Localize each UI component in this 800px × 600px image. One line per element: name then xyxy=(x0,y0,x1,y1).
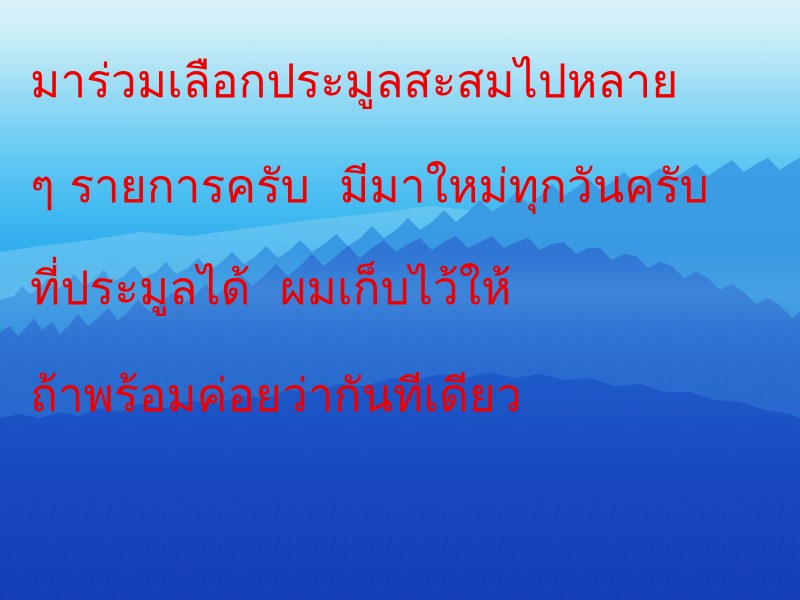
image-canvas: มาร่วมเลือกประมูลสะสมไปหลาย ๆ รายการครับ… xyxy=(0,0,800,600)
mountain-ridges xyxy=(0,0,800,600)
